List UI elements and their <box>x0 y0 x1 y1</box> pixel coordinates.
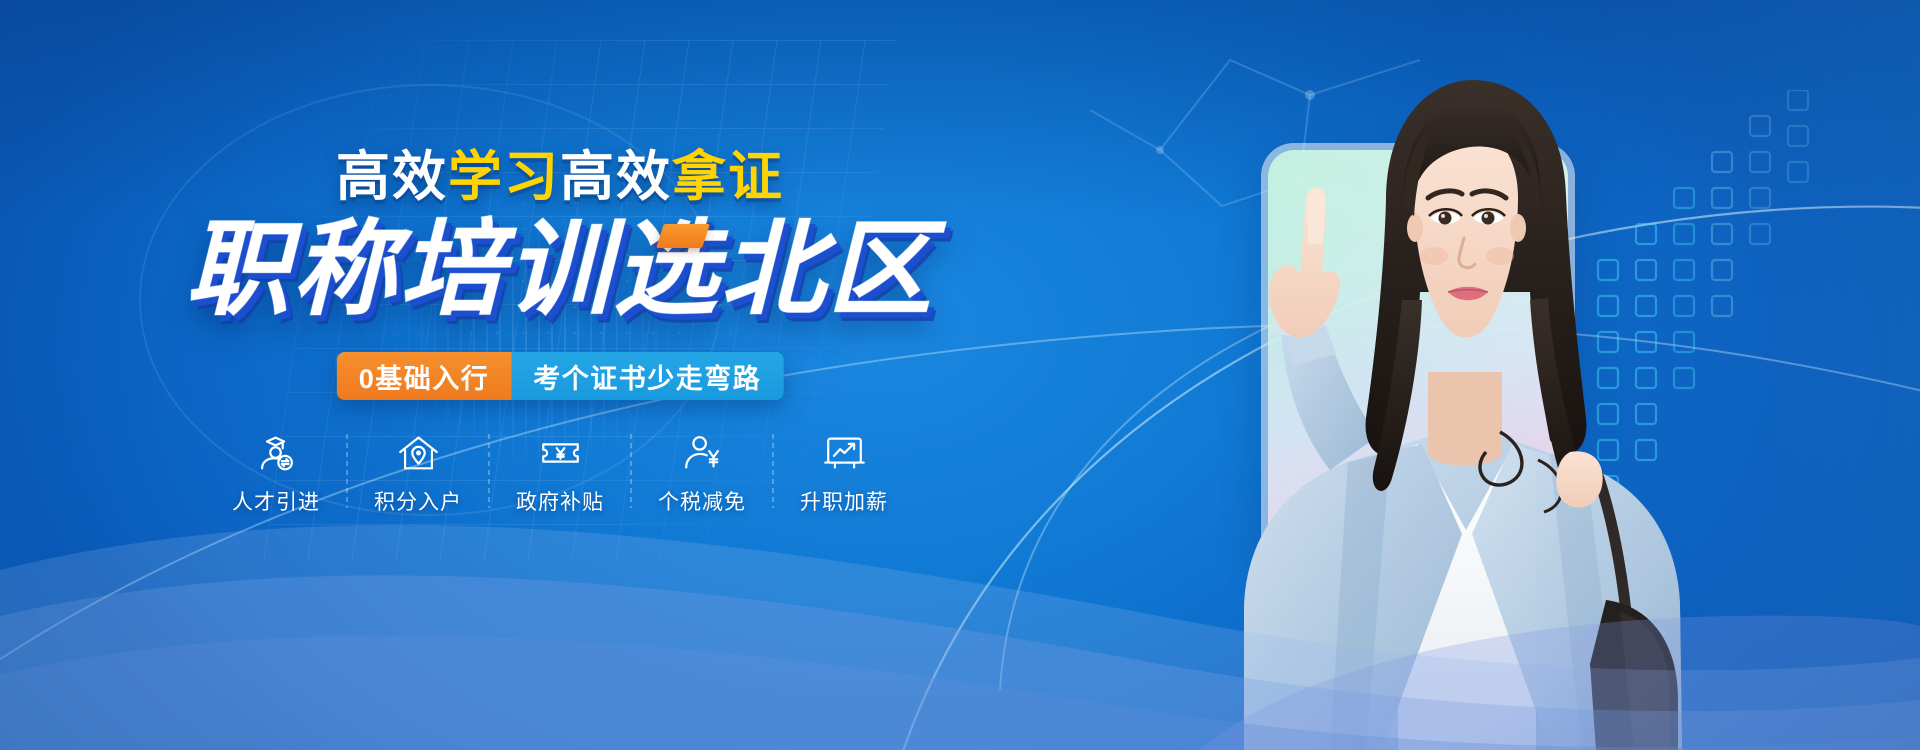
headline-secondary-part-2: 学习 <box>448 147 560 207</box>
feature-divider <box>347 434 348 508</box>
feature-label: 个税减免 <box>658 486 746 516</box>
orange-accent-mark <box>656 224 710 248</box>
feature-item-talent-introduction[interactable]: 人才引进 <box>210 430 343 516</box>
chart-board-icon <box>821 430 867 476</box>
headline-secondary: 高效学习高效拿证 <box>0 150 1120 204</box>
graduate-person-icon <box>253 430 299 476</box>
feature-divider <box>773 434 774 508</box>
person-yuan-icon <box>679 430 725 476</box>
feature-label: 积分入户 <box>374 486 462 516</box>
tagline-pill: 0基础入行 考个证书少走弯路 <box>337 352 784 400</box>
headline-secondary-part-1: 高效 <box>336 147 448 207</box>
feature-item-tax-reduction[interactable]: 个税减免 <box>636 430 769 516</box>
headline-secondary-part-4: 拿证 <box>672 147 784 207</box>
feature-label: 人才引进 <box>232 486 320 516</box>
feature-divider <box>489 434 490 508</box>
banner-copy-block: 高效学习高效拿证 职称培训选北区 0基础入行 考个证书少走弯路 人才引进 <box>0 0 1120 750</box>
feature-label: 政府补贴 <box>516 486 604 516</box>
promo-banner: 高效学习高效拿证 职称培训选北区 0基础入行 考个证书少走弯路 人才引进 <box>0 0 1920 750</box>
feature-label: 升职加薪 <box>800 486 888 516</box>
feature-item-promotion-raise[interactable]: 升职加薪 <box>778 430 911 516</box>
feature-item-government-subsidy[interactable]: 政府补贴 <box>494 430 627 516</box>
tagline-pill-right: 考个证书少走弯路 <box>511 352 783 400</box>
feature-divider <box>631 434 632 508</box>
headline-secondary-part-3: 高效 <box>560 147 672 207</box>
tagline-pill-left: 0基础入行 <box>337 352 512 400</box>
house-pin-icon <box>395 430 441 476</box>
headline-primary: 职称培训选北区 <box>0 218 1120 322</box>
feature-list: 人才引进 积分入户 政府补贴 <box>210 430 911 516</box>
ticket-yuan-icon <box>537 430 583 476</box>
feature-item-points-residency[interactable]: 积分入户 <box>352 430 485 516</box>
